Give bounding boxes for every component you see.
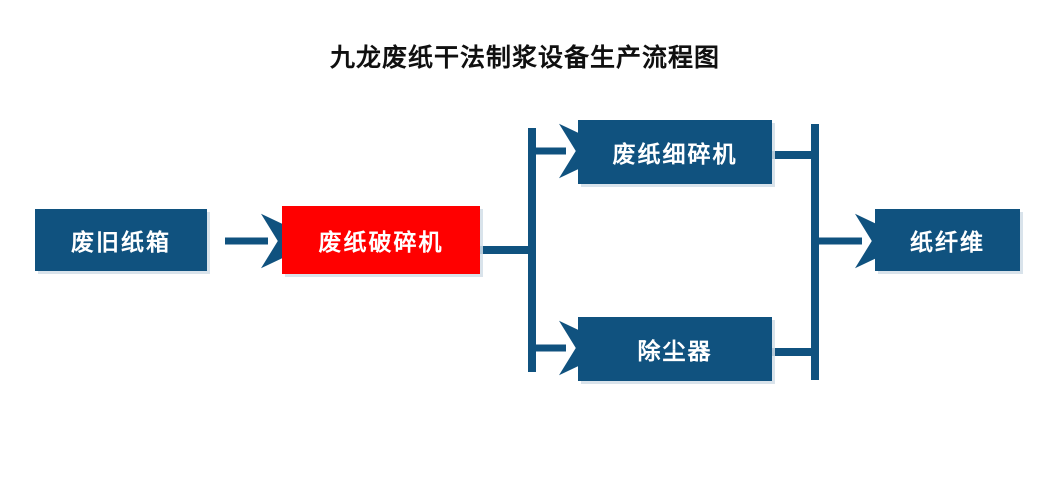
node-dust-collector[interactable]: 除尘器 bbox=[578, 317, 772, 381]
node-paper-fiber[interactable]: 纸纤维 bbox=[875, 209, 1020, 271]
node-paper-fiber-label: 纸纤维 bbox=[910, 223, 985, 257]
split-crusher-to-branches bbox=[480, 128, 536, 372]
node-paper-crusher-label: 废纸破碎机 bbox=[319, 223, 444, 257]
flowchart-canvas: 九龙废纸干法制浆设备生产流程图 bbox=[0, 0, 1050, 480]
node-waste-carton[interactable]: 废旧纸箱 bbox=[35, 209, 207, 271]
page-title: 九龙废纸干法制浆设备生产流程图 bbox=[0, 38, 1050, 74]
node-waste-carton-label: 废旧纸箱 bbox=[71, 223, 171, 257]
node-fine-crusher[interactable]: 废纸细碎机 bbox=[578, 120, 772, 184]
node-dust-collector-label: 除尘器 bbox=[638, 332, 713, 366]
node-fine-crusher-label: 废纸细碎机 bbox=[613, 135, 738, 169]
node-paper-crusher[interactable]: 废纸破碎机 bbox=[282, 206, 480, 274]
